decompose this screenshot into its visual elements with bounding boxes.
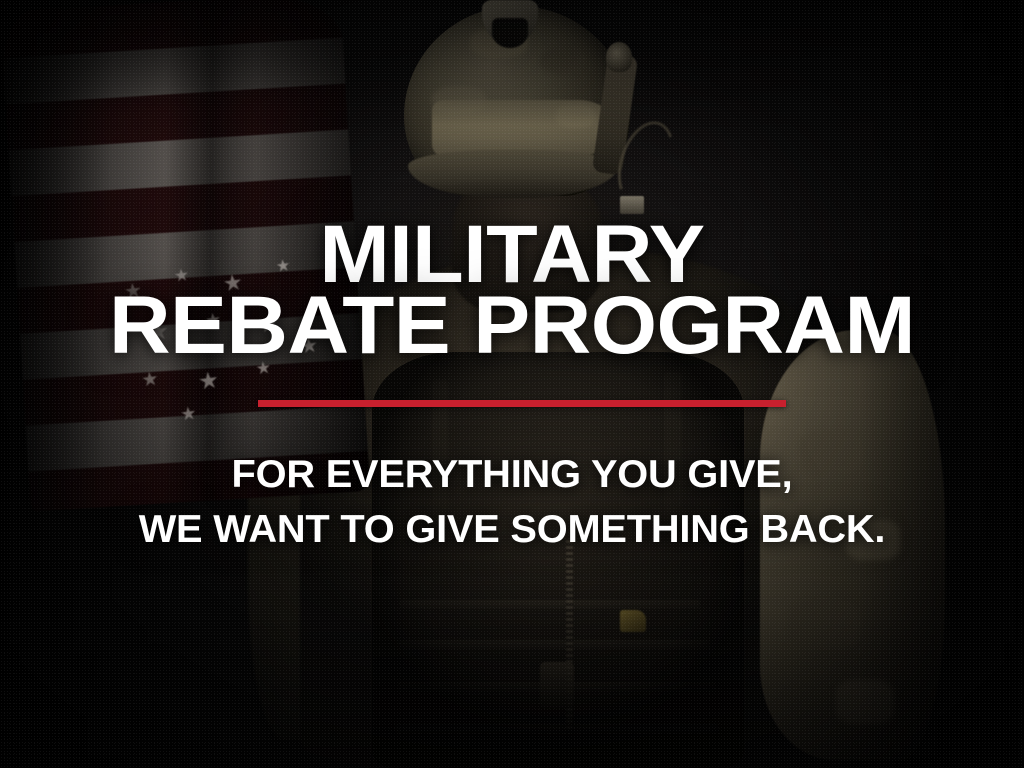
camo-blob bbox=[790, 600, 860, 648]
flag-star-field bbox=[111, 249, 349, 435]
camo-blob bbox=[836, 680, 894, 724]
helmet-id-tag bbox=[620, 196, 644, 214]
camo-blob bbox=[800, 430, 862, 474]
camo-blob bbox=[846, 520, 900, 560]
military-rebate-poster: MILITARY REBATE PROGRAM FOR EVERYTHING Y… bbox=[0, 0, 1024, 768]
helmet-rail-knob bbox=[606, 42, 632, 72]
vest-shadow bbox=[372, 352, 744, 768]
soldier-figure bbox=[0, 0, 1024, 768]
helmet-camo-blotch bbox=[540, 48, 586, 74]
background-photo bbox=[0, 0, 1024, 768]
helmet-velcro-panel bbox=[432, 100, 608, 156]
nvg-shroud-shadow bbox=[492, 18, 528, 48]
